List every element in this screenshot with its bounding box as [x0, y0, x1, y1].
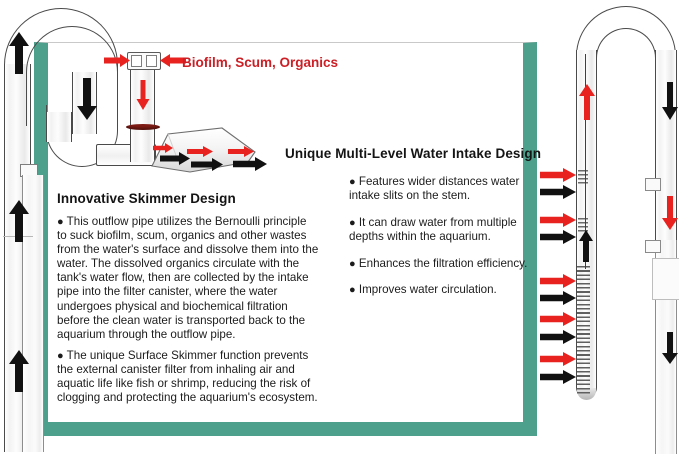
- outflow-pipe-bottom-segment: [22, 227, 44, 452]
- right-section-heading: Unique Multi-Level Water Intake Design: [285, 146, 541, 161]
- bullet-icon: ●: [349, 258, 356, 270]
- arrow-down-icon: [661, 82, 679, 120]
- arrow-up-icon: [8, 350, 30, 392]
- arrow-right-icon: [233, 157, 267, 171]
- diagram-canvas: Biofilm, Scum, Organics Innovative Skimm…: [0, 0, 679, 454]
- left-paragraph-2: ● The unique Surface Skimmer function pr…: [57, 349, 319, 405]
- right-bullet-4-text: Improves water circulation.: [359, 283, 497, 296]
- bullet-icon: ●: [57, 350, 64, 362]
- right-bullet-2-text: It can draw water from multiple depths w…: [349, 216, 517, 243]
- arrow-up-icon: [578, 84, 596, 120]
- left-paragraph-1-text: This outflow pipe utilizes the Bernoulli…: [57, 215, 318, 341]
- arrow-down-icon: [661, 332, 679, 364]
- skimmer-slot-left: [131, 55, 142, 67]
- outflow-pipe-rising-vertical: [46, 112, 72, 142]
- bullet-icon: ●: [57, 216, 64, 228]
- arrow-right-icon: [104, 54, 130, 67]
- left-section-heading: Innovative Skimmer Design: [57, 191, 236, 206]
- right-bullet-3: ● Enhances the filtration efficiency.: [349, 257, 549, 271]
- bullet-icon: ●: [349, 284, 356, 296]
- left-paragraph-1: ● This outflow pipe utilizes the Bernoul…: [57, 215, 319, 342]
- skimmer-slot-right: [146, 55, 157, 67]
- return-pipe-coupler-upper: [645, 178, 661, 191]
- arrow-down-icon: [661, 196, 679, 230]
- arrow-right-icon: [540, 230, 576, 244]
- arrow-down-icon: [76, 78, 98, 120]
- arrow-down-icon: [136, 80, 150, 110]
- return-pipe-outlet-box: [652, 258, 679, 300]
- biofilm-label: Biofilm, Scum, Organics: [182, 55, 338, 70]
- right-bullet-2: ● It can draw water from multiple depths…: [349, 216, 539, 244]
- return-pipe-coupler-lower: [645, 240, 661, 253]
- bullet-icon: ●: [349, 217, 356, 229]
- arrow-up-icon: [578, 230, 594, 262]
- intake-slit-group-lower: [577, 266, 590, 394]
- arrow-right-icon: [540, 213, 576, 227]
- arrow-up-icon: [8, 32, 30, 74]
- right-bullet-3-text: Enhances the filtration efficiency.: [359, 257, 527, 270]
- arrow-right-icon: [540, 312, 576, 326]
- arrow-right-icon: [540, 185, 576, 199]
- arrow-right-icon: [540, 370, 576, 384]
- arrow-right-icon: [187, 146, 213, 157]
- intake-slit-group-upper: [578, 170, 588, 184]
- left-paragraph-2-text: The unique Surface Skimmer function prev…: [57, 349, 318, 404]
- bullet-icon: ●: [349, 176, 356, 188]
- right-bullet-1: ● Features wider distances water intake …: [349, 175, 539, 203]
- arrow-right-icon: [228, 146, 254, 157]
- intake-pipe-inner-bend: [596, 28, 656, 98]
- right-bullet-4: ● Improves water circulation.: [349, 283, 549, 297]
- arrow-right-icon: [191, 158, 223, 171]
- arrow-up-icon: [8, 200, 30, 242]
- right-bullet-1-text: Features wider distances water intake sl…: [349, 175, 519, 202]
- arrow-right-icon: [540, 330, 576, 344]
- arrow-right-icon: [540, 352, 576, 366]
- arrow-right-icon: [540, 168, 576, 182]
- arrow-right-icon: [160, 152, 190, 165]
